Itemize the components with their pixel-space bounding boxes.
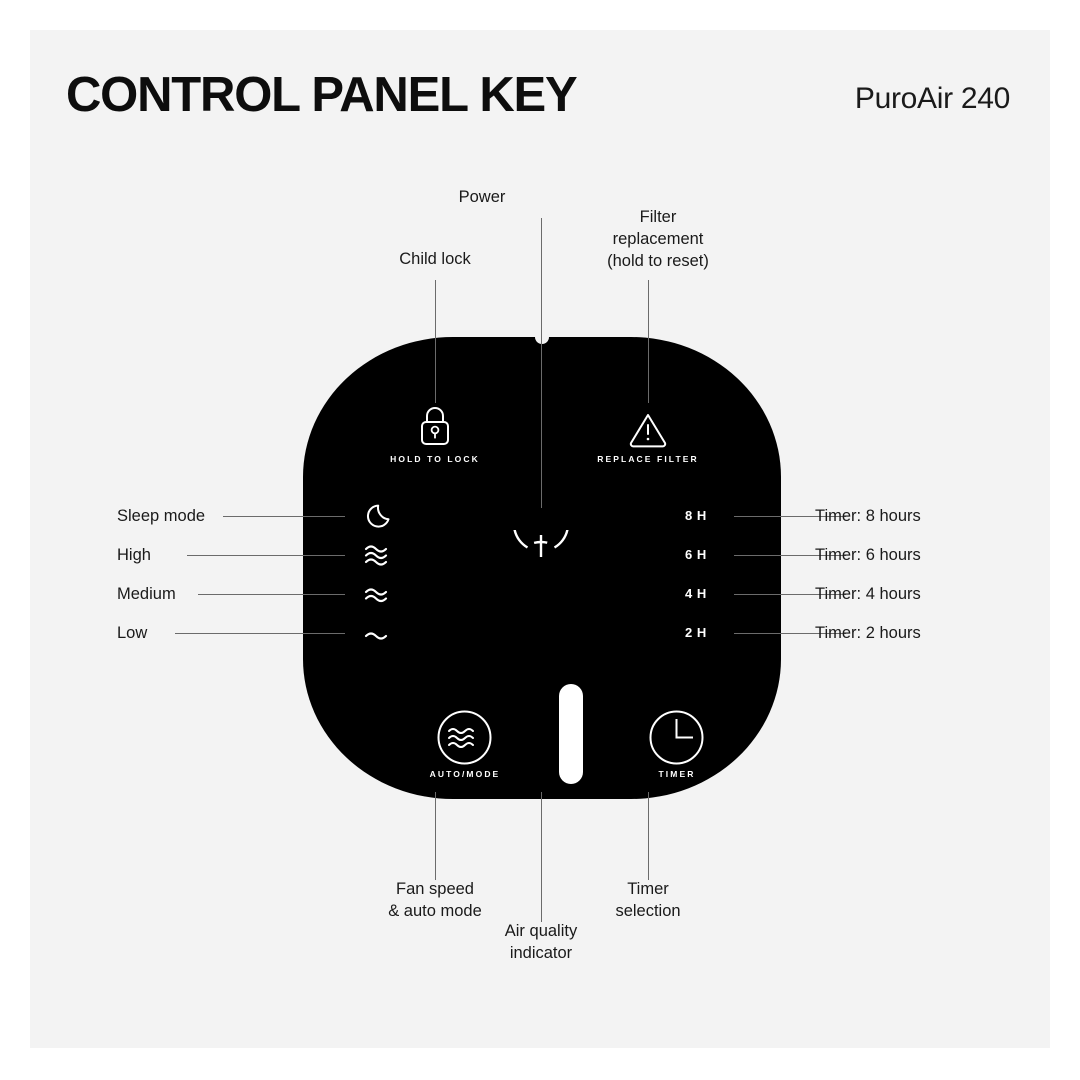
label-timer-6-hours: Timer: 6 hours: [815, 544, 1005, 566]
panel-label-8h: 8 H: [685, 508, 725, 523]
waves-circle-icon[interactable]: [436, 709, 493, 771]
air-quality-pill-indicator[interactable]: [559, 684, 583, 784]
panel-label-4h: 4 H: [685, 586, 725, 601]
leader-line-air-quality: [541, 792, 542, 922]
power-icon[interactable]: [506, 530, 576, 607]
leader-line-child-lock: [435, 280, 436, 403]
wave-one-icon: [363, 628, 397, 649]
leader-line-fan-speed: [435, 792, 436, 880]
model-name: PuroAir 240: [855, 82, 1010, 116]
waves-two-icon: [363, 585, 397, 612]
waves-three-icon: [363, 542, 397, 575]
page-title: CONTROL PANEL KEY: [66, 67, 577, 123]
panel-label-2h: 2 H: [685, 625, 725, 640]
warning-triangle-icon[interactable]: [627, 410, 669, 453]
label-timer-8-hours: Timer: 8 hours: [815, 505, 1005, 527]
leader-line-power: [541, 218, 542, 508]
label-timer-4-hours: Timer: 4 hours: [815, 583, 1005, 605]
leader-line-timer-selection: [648, 792, 649, 880]
callout-child-lock: Child lock: [365, 248, 505, 270]
timer-caption: TIMER: [607, 769, 747, 779]
auto-mode-caption: AUTO/MODE: [395, 769, 535, 779]
leader-line-filter-replacement: [648, 280, 649, 403]
infographic-card: CONTROL PANEL KEY PuroAir 240 Power Chil…: [30, 30, 1050, 1048]
clock-icon[interactable]: [648, 709, 705, 771]
moon-icon: [365, 500, 395, 535]
callout-power: Power: [422, 186, 542, 208]
callout-timer-selection: Timer selection: [578, 878, 718, 922]
callout-air-quality: Air quality indicator: [471, 920, 611, 964]
header: CONTROL PANEL KEY PuroAir 240: [30, 30, 1050, 150]
callout-fan-speed: Fan speed & auto mode: [365, 878, 505, 922]
label-timer-2-hours: Timer: 2 hours: [815, 622, 1005, 644]
leader-line-sleep-mode: [223, 516, 345, 517]
leader-line-low: [175, 633, 345, 634]
filter-button-caption: REPLACE FILTER: [578, 454, 718, 464]
lock-button-caption: HOLD TO LOCK: [365, 454, 505, 464]
panel-label-6h: 6 H: [685, 547, 725, 562]
leader-line-high: [187, 555, 345, 556]
leader-line-medium: [198, 594, 345, 595]
padlock-icon[interactable]: [416, 404, 454, 453]
callout-filter-replacement: Filter replacement (hold to reset): [578, 206, 738, 272]
